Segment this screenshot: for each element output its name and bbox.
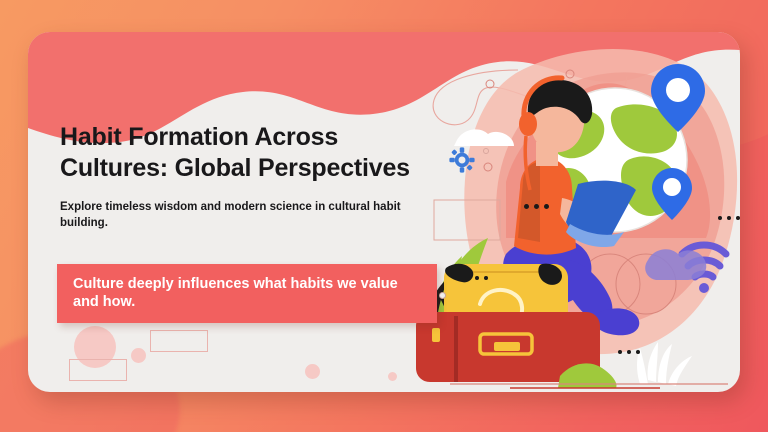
- decor-circle-small-2: [305, 364, 320, 379]
- highlight-banner: Culture deeply influences what habits we…: [57, 264, 437, 323]
- headphone-earcup: [519, 112, 537, 136]
- suitcase-lock-left: [432, 328, 440, 342]
- dot-cluster-3: [718, 216, 740, 220]
- dot-cluster-2: [466, 276, 488, 280]
- title-line-2: Cultures: Global Perspectives: [60, 154, 410, 182]
- text-column: Habit Formation Across Cultures: Global …: [60, 122, 480, 232]
- dot-cluster-4: [618, 350, 640, 354]
- page-title: Habit Formation Across Cultures: Global …: [60, 122, 480, 183]
- small-ring-1: [486, 80, 494, 88]
- decor-circle-small: [131, 348, 146, 363]
- title-ring-dot: [483, 148, 489, 154]
- grass-tuft-white: [637, 342, 692, 386]
- dot-cluster-1: [524, 204, 549, 209]
- purple-cloud: [645, 249, 706, 280]
- subtitle: Explore timeless wisdom and modern scien…: [60, 200, 405, 232]
- decor-rect-top: [150, 330, 208, 352]
- title-line-1: Habit Formation Across: [60, 123, 338, 151]
- suitcase-strap: [454, 316, 458, 382]
- highlight-banner-text: Culture deeply influences what habits we…: [73, 275, 423, 311]
- banner-ring-dot: [439, 292, 446, 299]
- content-card: Habit Formation Across Cultures: Global …: [28, 32, 740, 392]
- decor-circle-tiny: [388, 372, 397, 381]
- decor-rect-bottom: [69, 359, 127, 381]
- suitcase-latch: [494, 342, 520, 351]
- slide-canvas: Habit Formation Across Cultures: Global …: [0, 0, 768, 432]
